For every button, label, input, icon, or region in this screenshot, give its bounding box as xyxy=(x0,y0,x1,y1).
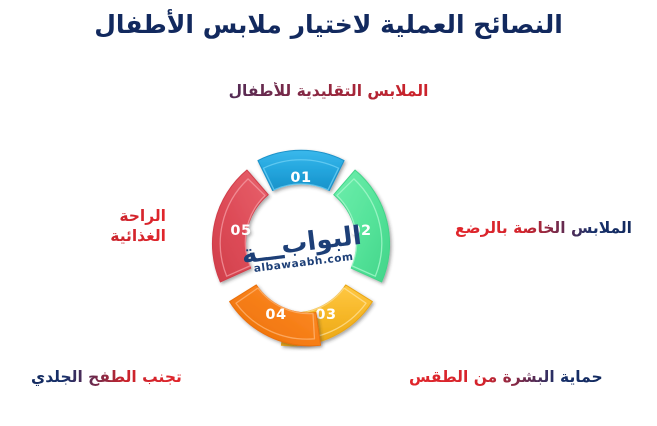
segment-number-05: 05 xyxy=(230,223,251,239)
donut-segment-05[interactable]: 05 xyxy=(212,170,268,282)
segment-number-04: 04 xyxy=(265,307,286,323)
segment-label-05: الراحة الغذائية xyxy=(16,206,166,246)
donut-chart: 01 02 03 04 xyxy=(195,142,407,354)
donut-segment-01[interactable]: 01 xyxy=(258,150,344,190)
infographic-canvas: النصائح العملية لاختيار ملابس الأطفال xyxy=(0,0,657,426)
donut-segment-04[interactable]: 04 xyxy=(230,285,321,346)
segment-label-05-line1: الراحة xyxy=(119,207,166,225)
page-title: النصائح العملية لاختيار ملابس الأطفال xyxy=(0,10,657,41)
segment-number-02: 02 xyxy=(350,223,371,239)
segment-label-02: الملابس الخاصة بالرضع xyxy=(455,219,632,239)
segment-number-03: 03 xyxy=(315,307,336,323)
segment-label-01: الملابس التقليدية للأطفال xyxy=(0,82,657,102)
donut-segment-02[interactable]: 02 xyxy=(334,170,390,282)
segment-label-03: حماية البشرة من الطقس xyxy=(409,368,603,388)
segment-number-01: 01 xyxy=(290,170,311,186)
segment-label-04: تجنب الطفح الجلدي xyxy=(31,368,182,388)
segment-label-05-line2: الغذائية xyxy=(16,226,166,246)
